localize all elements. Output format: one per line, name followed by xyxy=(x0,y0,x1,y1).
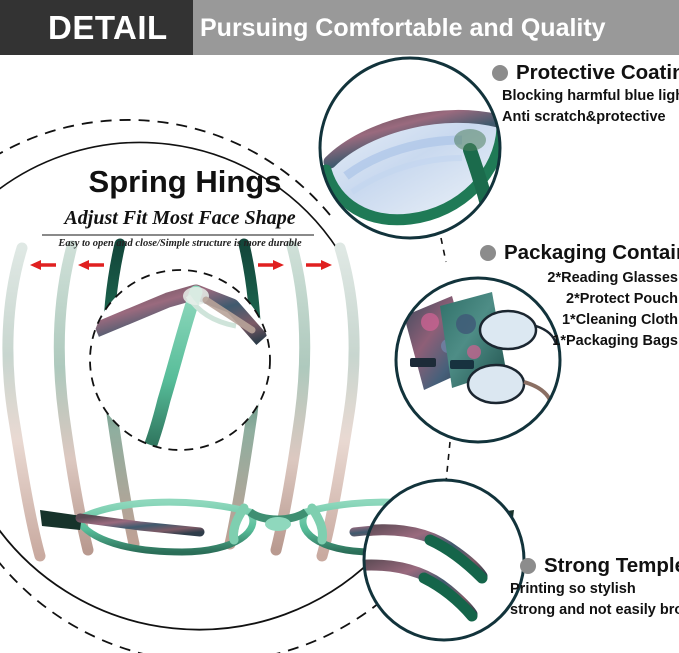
spring-hinge-title: Spring Hings xyxy=(40,163,330,201)
spring-hinge-subtitle: Adjust Fit Most Face Shape xyxy=(30,205,330,231)
list-item: 2*Protect Pouch xyxy=(480,289,679,310)
product-detail-page: DETAIL Pursuing Comfortable and Quality … xyxy=(0,0,679,653)
callout-heading-row: Packaging Contains xyxy=(480,240,679,266)
callout-line: Printing so stylish xyxy=(510,579,679,600)
callout-heading: Strong Temple xyxy=(544,553,679,579)
bullet-dot-icon xyxy=(480,245,496,261)
callout-line: Anti scratch&protective xyxy=(502,107,679,128)
glasses-front-lens-photo xyxy=(320,58,502,244)
header-tagline: Pursuing Comfortable and Quality xyxy=(200,11,670,45)
header-bar: DETAIL Pursuing Comfortable and Quality xyxy=(0,0,679,55)
callout-protective-coating: Protective Coating Blocking harmful blue… xyxy=(492,60,679,128)
packaging-list: 2*Reading Glasses 2*Protect Pouch 1*Clea… xyxy=(480,268,679,352)
bullet-dot-icon xyxy=(492,65,508,81)
spring-hinge-caption: Easy to open and close/Simple structure … xyxy=(30,237,330,251)
callout-heading: Packaging Contains xyxy=(504,240,679,266)
callout-line: Blocking harmful blue light xyxy=(502,86,679,107)
callout-strong-temple: Strong Temple Printing so stylish strong… xyxy=(508,553,679,621)
callout-heading: Protective Coating xyxy=(516,60,679,86)
bullet-dot-icon xyxy=(520,558,536,574)
divider xyxy=(42,234,314,236)
page-title: DETAIL xyxy=(48,8,188,48)
callout-packaging-contains: Packaging Contains 2*Reading Glasses 2*P… xyxy=(480,240,679,352)
callout-heading-row: Protective Coating xyxy=(492,60,679,86)
spring-hinge-closeup-photo xyxy=(90,270,270,452)
list-item: 1*Packaging Bags xyxy=(480,331,679,352)
callout-line: strong and not easily broken xyxy=(510,600,679,621)
list-item: 2*Reading Glasses xyxy=(480,268,679,289)
callout-heading-row: Strong Temple xyxy=(520,553,679,579)
list-item: 1*Cleaning Cloth xyxy=(480,310,679,331)
